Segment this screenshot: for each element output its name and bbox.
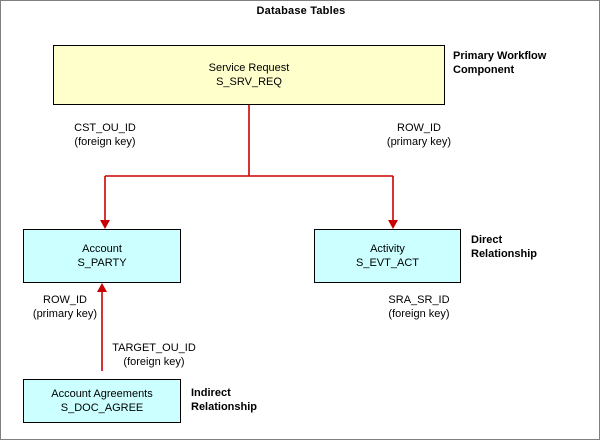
table-box-account-agreements[interactable]: Account Agreements S_DOC_AGREE (23, 379, 181, 423)
page-title: Database Tables (1, 5, 600, 17)
table-box-activity-name: S_EVT_ACT (356, 256, 419, 270)
edge-label-sra-sr-id: SRA_SR_ID (foreign key) (359, 293, 479, 321)
table-box-service-request-name: S_SRV_REQ (216, 75, 282, 89)
note-primary-workflow-component: Primary Workflow Component (453, 49, 546, 77)
arrowhead-account (100, 220, 110, 229)
edge-label-cst-ou-id: CST_OU_ID (foreign key) (45, 121, 165, 149)
table-box-account-agreements-title: Account Agreements (51, 387, 153, 401)
table-box-account-name: S_PARTY (77, 256, 126, 270)
arrowhead-account-bottom (97, 283, 107, 292)
table-box-account[interactable]: Account S_PARTY (23, 229, 181, 283)
edge-label-row-id-top: ROW_ID (primary key) (359, 121, 479, 149)
edge-label-row-id-bottom: ROW_ID (primary key) (15, 293, 115, 321)
note-direct-relationship: Direct Relationship (471, 233, 537, 261)
table-box-account-title: Account (82, 242, 122, 256)
table-box-activity[interactable]: Activity S_EVT_ACT (314, 229, 461, 283)
edge-label-target-ou-id: TARGET_OU_ID (foreign key) (89, 341, 219, 369)
table-box-service-request-title: Service Request (209, 61, 290, 75)
arrowhead-activity (388, 220, 398, 229)
note-indirect-relationship: Indirect Relationship (191, 386, 257, 414)
table-box-service-request[interactable]: Service Request S_SRV_REQ (53, 45, 445, 105)
table-box-activity-title: Activity (370, 242, 405, 256)
diagram-canvas: Database Tables Service Request S_SRV_RE… (0, 0, 600, 440)
table-box-account-agreements-name: S_DOC_AGREE (61, 401, 144, 415)
